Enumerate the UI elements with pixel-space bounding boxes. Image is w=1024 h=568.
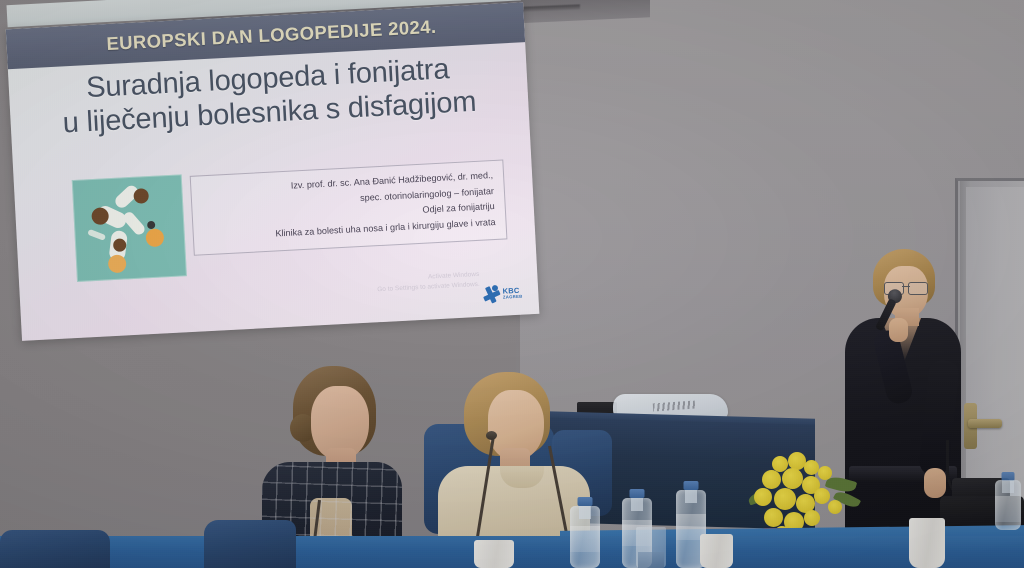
overhead-people-illustration-icon bbox=[72, 174, 187, 282]
watermark-line-2: Go to Settings to activate Windows. bbox=[377, 279, 480, 294]
glass-water bbox=[638, 552, 664, 568]
kbc-logo-text: KBC ZAGREB bbox=[502, 287, 522, 300]
water-bottle-1 bbox=[570, 506, 600, 568]
activate-windows-watermark: Activate Windows Go to Settings to activ… bbox=[377, 270, 480, 294]
kbc-zagreb-logo: KBC ZAGREB bbox=[480, 283, 522, 305]
empty-chair-left bbox=[0, 530, 110, 568]
presenter-credentials-box: Izv. prof. dr. sc. Ana Đanić Hadžibegovi… bbox=[190, 159, 508, 255]
left-hand bbox=[889, 318, 908, 342]
right-hand bbox=[924, 468, 946, 498]
drinking-glass bbox=[636, 527, 666, 568]
door-handle bbox=[968, 419, 1002, 428]
paper-cup-2 bbox=[700, 534, 733, 568]
slide-body: Izv. prof. dr. sc. Ana Đanić Hadžibegovi… bbox=[14, 156, 537, 293]
conference-photo-scene: EUROPSKI DAN LOGOPEDIJE 2024. Suradnja l… bbox=[0, 0, 1024, 568]
bag-print bbox=[653, 401, 695, 412]
kbc-logo-secondary: ZAGREB bbox=[503, 294, 523, 299]
water-bottle-4 bbox=[995, 480, 1021, 530]
empty-chair-left-2 bbox=[204, 520, 296, 568]
kbc-cross-icon bbox=[480, 284, 501, 305]
sweater-collar bbox=[500, 466, 544, 488]
paper-cup-3 bbox=[909, 518, 945, 568]
paper-cup-1 bbox=[474, 540, 514, 568]
presentation-slide: EUROPSKI DAN LOGOPEDIJE 2024. Suradnja l… bbox=[6, 2, 540, 341]
slide-header-title: EUROPSKI DAN LOGOPEDIJE 2024. bbox=[106, 16, 437, 55]
projection-screen: EUROPSKI DAN LOGOPEDIJE 2024. Suradnja l… bbox=[0, 0, 550, 348]
